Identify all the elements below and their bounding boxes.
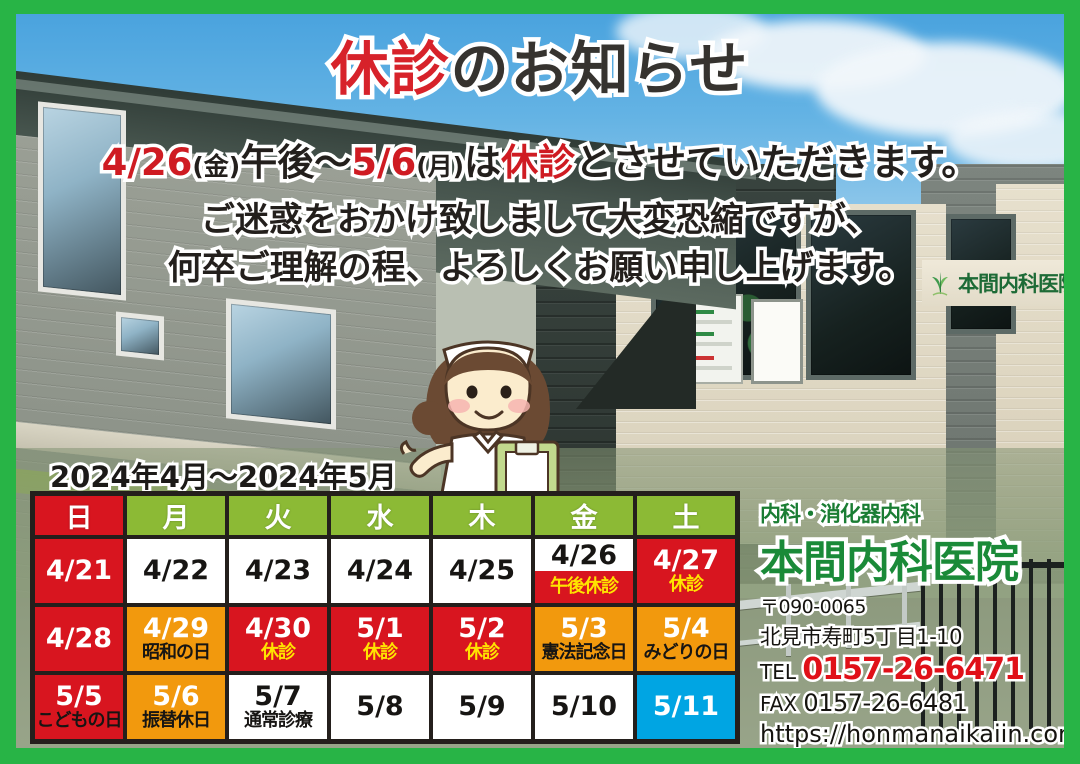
notice-end-weekday: (月) [416,152,464,181]
poster-inner: 本間内科医院 [16,14,1064,748]
calendar-day-note: 通常診療 [229,711,327,731]
calendar-day-number: 5/8 [331,693,429,721]
window [116,311,164,360]
calendar-day-cell: 4/29昭和の日 [125,605,227,673]
clinic-info-block: 内科・消化器内科 本間内科医院 〒090-0065 北見市寿町5丁目1-10 T… [760,498,1064,748]
calendar-header-mon: 月 [125,494,227,537]
page-title-red: 休診 [331,35,451,103]
calendar-day-number: 5/10 [535,693,633,721]
calendar-day-note: 振替休日 [127,711,225,731]
calendar-header-sun: 日 [33,494,125,537]
notice-kyushin: 休診 [501,141,575,184]
calendar-day-cell: 5/10 [533,673,635,741]
calendar-header-fri: 金 [533,494,635,537]
calendar-day-cell: 4/25 [431,537,533,605]
calendar-header-thu: 木 [431,494,533,537]
calendar-day-note: 休診 [433,643,531,663]
notice-start-date: 4/26 [102,141,193,184]
clinic-fax: FAX 0157-26-6481 [760,689,1064,717]
clinic-name: 本間内科医院 [760,526,1064,590]
calendar-day-number: 4/23 [229,557,327,585]
notice-line-1: 4/26(金)午後〜5/6(月)は休診とさせていただきます。 [16,132,1064,186]
calendar-day-number: 4/21 [35,557,123,585]
calendar-day-number: 5/3 [535,615,633,643]
holiday-calendar: 日 月 火 水 木 金 土 4/214/224/234/244/254/26午後… [30,491,740,744]
page-title: 休診のお知らせ [16,40,1064,98]
calendar-day-cell: 5/9 [431,673,533,741]
calendar-day-number: 4/28 [35,625,123,653]
calendar-day-number: 5/5 [35,683,123,711]
tel-number[interactable]: 0157-26-6471 [802,652,1024,687]
calendar-day-number: 5/2 [433,615,531,643]
calendar-day-cell: 4/27休診 [635,537,737,605]
calendar-day-note: 休診 [637,575,735,595]
calendar-day-cell: 4/28 [33,605,125,673]
calendar-header-tue: 火 [227,494,329,537]
calendar-day-number: 5/7 [229,683,327,711]
calendar-day-note: 午後休診 [535,571,633,603]
calendar-day-note: みどりの日 [637,643,735,663]
calendar-day-cell: 4/24 [329,537,431,605]
fax-label: FAX [760,692,797,716]
calendar-row: 4/284/29昭和の日4/30休診5/1休診5/2休診5/3憲法記念日5/4み… [33,605,737,673]
calendar-row: 4/214/224/234/244/254/26午後休診4/27休診 [33,537,737,605]
calendar-day-note: 休診 [331,643,429,663]
window [226,298,336,430]
calendar-day-number: 5/4 [637,615,735,643]
calendar-day-cell: 5/3憲法記念日 [533,605,635,673]
calendar-day-cell: 5/6振替休日 [125,673,227,741]
calendar-day-note: 憲法記念日 [535,643,633,663]
calendar-day-number: 5/6 [127,683,225,711]
calendar-header-row: 日 月 火 水 木 金 土 [33,494,737,537]
calendar-day-number: 4/22 [127,557,225,585]
calendar-day-cell: 5/5こどもの日 [33,673,125,741]
calendar-day-number: 5/11 [637,693,735,721]
calendar-day-number: 4/24 [331,557,429,585]
calendar-day-number: 5/9 [433,693,531,721]
calendar-day-number: 4/25 [433,557,531,585]
fax-number: 0157-26-6481 [803,689,967,717]
notice-gogo: 午後 [240,141,314,184]
calendar-day-cell: 5/11 [635,673,737,741]
calendar-range-label: 2024年4月〜2024年5月 [50,454,397,496]
nurse-illustration [386,314,596,504]
calendar-day-cell: 4/22 [125,537,227,605]
calendar-day-number: 4/26 [535,539,633,571]
calendar-day-cell: 5/2休診 [431,605,533,673]
page-title-dark: のお知らせ [451,35,750,103]
calendar-day-cell: 4/26午後休診 [533,537,635,605]
notice-tilde: 〜 [314,141,351,184]
calendar-day-cell: 4/30休診 [227,605,329,673]
calendar-day-cell: 5/8 [329,673,431,741]
clinic-website-url[interactable]: https://honmanaikaiin.com [760,720,1064,748]
tel-label: TEL [760,660,796,684]
calendar-header-wed: 水 [329,494,431,537]
clinic-zipcode: 〒090-0065 [760,592,1064,619]
calendar-day-note: こどもの日 [35,711,123,731]
calendar-header-sat: 土 [635,494,737,537]
calendar-day-cell: 4/23 [227,537,329,605]
calendar-day-note: 昭和の日 [127,643,225,663]
notice-line-3: 何卒ご理解の程、よろしくお願い申し上げます。 [16,240,1064,289]
clinic-address: 北見市寿町5丁目1-10 [760,621,1064,651]
wall-notice-board-2 [751,299,803,384]
calendar-day-number: 5/1 [331,615,429,643]
poster-root: 本間内科医院 [0,0,1080,764]
notice-tail: とさせていただきます。 [575,141,978,184]
notice-wa: は [464,141,501,184]
clinic-telephone: TEL 0157-26-6471 [760,652,1064,687]
calendar-row: 5/5こどもの日5/6振替休日5/7通常診療5/85/95/105/11 [33,673,737,741]
notice-line-2: ご迷惑をおかけ致しまして大変恐縮ですが、 [16,192,1064,241]
calendar-day-cell: 5/7通常診療 [227,673,329,741]
calendar-day-number: 4/27 [637,547,735,575]
calendar-day-cell: 4/21 [33,537,125,605]
calendar-day-number: 4/29 [127,615,225,643]
notice-start-weekday: (金) [192,152,240,181]
calendar-day-cell: 5/4みどりの日 [635,605,737,673]
notice-end-date: 5/6 [351,141,416,184]
clinic-specialty: 内科・消化器内科 [760,498,1064,528]
calendar-day-number: 4/30 [229,615,327,643]
calendar-day-cell: 5/1休診 [329,605,431,673]
calendar-day-note: 休診 [229,643,327,663]
